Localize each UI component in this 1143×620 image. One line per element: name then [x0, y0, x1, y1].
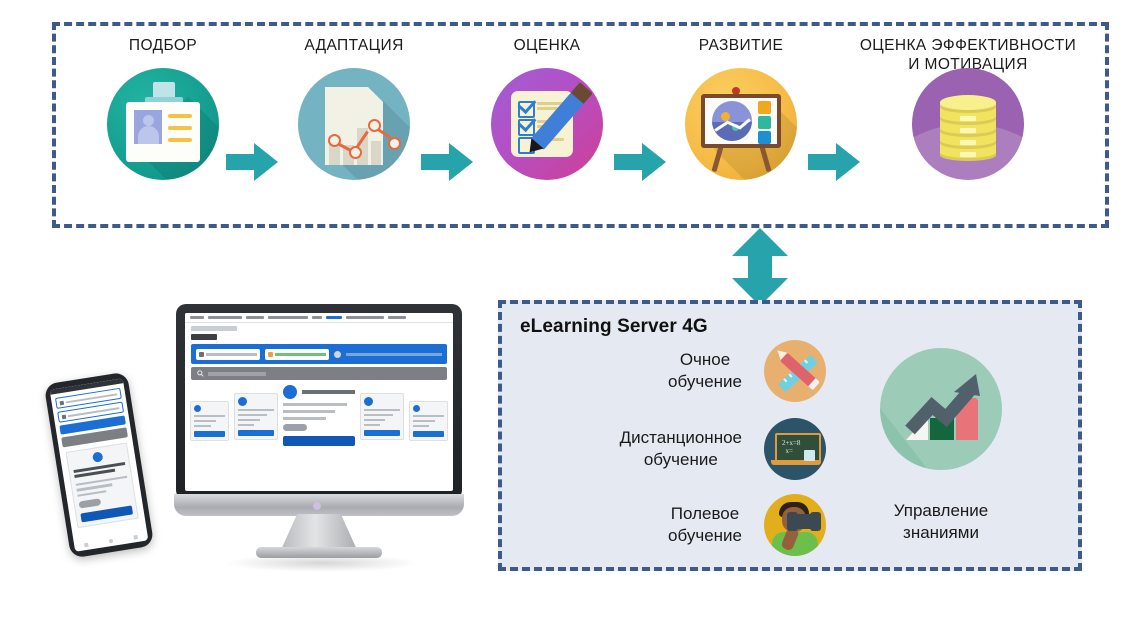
mode-row-distance: Дистанционное обучение 2+x=8 x= [536, 418, 826, 480]
mode-label: Очное обучение [668, 349, 742, 393]
chart-node [368, 119, 381, 132]
stage-recruitment: ПОДБОР [78, 36, 248, 180]
stage-assessment: ОЦЕНКА [462, 36, 632, 180]
phone-nav-bar[interactable] [74, 533, 148, 549]
stage-development: РАЗВИТИЕ [656, 36, 826, 180]
lms-user-card[interactable] [409, 401, 448, 441]
easel-leg [712, 146, 724, 172]
back-icon[interactable] [84, 543, 89, 548]
badge-avatar-head [143, 115, 154, 126]
badge-text-line [168, 114, 192, 118]
power-led-icon [313, 502, 321, 510]
coin-slot [960, 152, 976, 157]
legend-swatch [758, 131, 771, 144]
home-icon[interactable] [109, 539, 114, 544]
phone-status-pill [78, 498, 101, 508]
badge-text-line [168, 126, 192, 130]
mode-label: Полевое обучение [668, 503, 742, 547]
smartphone-mockup [44, 370, 169, 573]
badge-avatar-body [138, 126, 159, 144]
avatar [92, 451, 103, 462]
coin-slot [960, 116, 976, 121]
lms-filter-bar[interactable] [191, 344, 447, 364]
checklist-pencil-icon [491, 68, 603, 180]
lms-primary-button[interactable] [283, 436, 354, 446]
lms-select-role[interactable] [196, 349, 260, 360]
legend-swatch [758, 116, 771, 129]
coins-stack-icon [912, 68, 1024, 180]
pencil-eraser [571, 82, 593, 104]
monitor-stand-base [256, 547, 382, 558]
lms-search-field[interactable] [191, 367, 447, 380]
lms-user-card[interactable] [360, 393, 405, 440]
stage-label: ОЦЕНКА [462, 36, 632, 55]
coin-slot [960, 140, 976, 145]
lms-breadcrumb [191, 326, 237, 331]
mode-row-classroom: Очное обучение [536, 340, 826, 402]
doc-bar [371, 141, 381, 165]
stage-adaptation: АДАПТАЦИЯ [269, 36, 439, 180]
recents-icon[interactable] [133, 535, 138, 540]
phone-body [44, 372, 154, 559]
monitor-screen [185, 313, 453, 491]
pencil-tip [774, 347, 787, 360]
lms-user-card[interactable] [190, 401, 229, 441]
lms-page-title [191, 334, 217, 340]
phone-screen [50, 378, 149, 552]
chart-node [388, 137, 401, 150]
lms-select-group[interactable] [265, 349, 329, 360]
phone-user-card[interactable] [66, 442, 139, 528]
lms-online-toggle[interactable] [334, 351, 341, 358]
lms-user-card[interactable] [234, 393, 279, 440]
laptop-chalkboard-icon: 2+x=8 x= [764, 418, 826, 480]
presentation-icon [685, 68, 797, 180]
lms-status-pill [283, 424, 307, 431]
knowledge-label: Управление знаниями [880, 500, 1002, 544]
badge-card [126, 102, 200, 162]
pie-highlight [721, 112, 730, 121]
board-screen [705, 98, 777, 144]
presentation-board [701, 94, 781, 148]
document-chart-icon [298, 68, 410, 180]
desktop-monitor-mockup [176, 304, 462, 554]
stage-label: ПОДБОР [78, 36, 248, 55]
mode-row-field: Полевое обучение [536, 494, 826, 556]
stage-label: АДАПТАЦИЯ [269, 36, 439, 55]
lms-navbar[interactable] [185, 313, 453, 323]
badge-text-line [168, 138, 192, 142]
coin-slot [960, 128, 976, 133]
binoculars [790, 514, 818, 529]
panel-title: eLearning Server 4G [520, 316, 708, 338]
stage-label: РАЗВИТИЕ [656, 36, 826, 55]
cup [804, 450, 815, 461]
stage-performance-motivation: ОЦЕНКА ЭФФЕКТИВНОСТИ И МОТИВАЦИЯ [844, 36, 1092, 180]
chalkboard-equation: 2+x=8 x= [782, 439, 800, 455]
hr-lifecycle-container: ПОДБОР АДАПТАЦИЯ [52, 22, 1109, 228]
phone-primary-button[interactable] [80, 506, 133, 523]
lms-profile-panel [283, 385, 354, 446]
chart-node [349, 146, 362, 159]
knowledge-management-block: Управление знаниями [880, 348, 1002, 544]
pie-chart [712, 101, 752, 141]
coin-top-face [940, 95, 996, 110]
growth-chart-icon [880, 348, 1002, 470]
double-arrow-vertical-icon [726, 228, 794, 306]
lms-user-cards [185, 385, 453, 446]
monitor-bezel [176, 304, 462, 500]
pencil-eraser [808, 378, 820, 390]
mode-label: Дистанционное обучение [620, 427, 742, 471]
binoculars-person-icon [764, 494, 826, 556]
avatar [283, 385, 297, 399]
elearning-server-panel: eLearning Server 4G Очное обучение Диста… [498, 300, 1082, 571]
chart-node [328, 134, 341, 147]
pencil-ruler-icon [764, 340, 826, 402]
id-badge-icon [107, 68, 219, 180]
badge-photo [134, 110, 162, 144]
legend-swatch [758, 101, 771, 114]
